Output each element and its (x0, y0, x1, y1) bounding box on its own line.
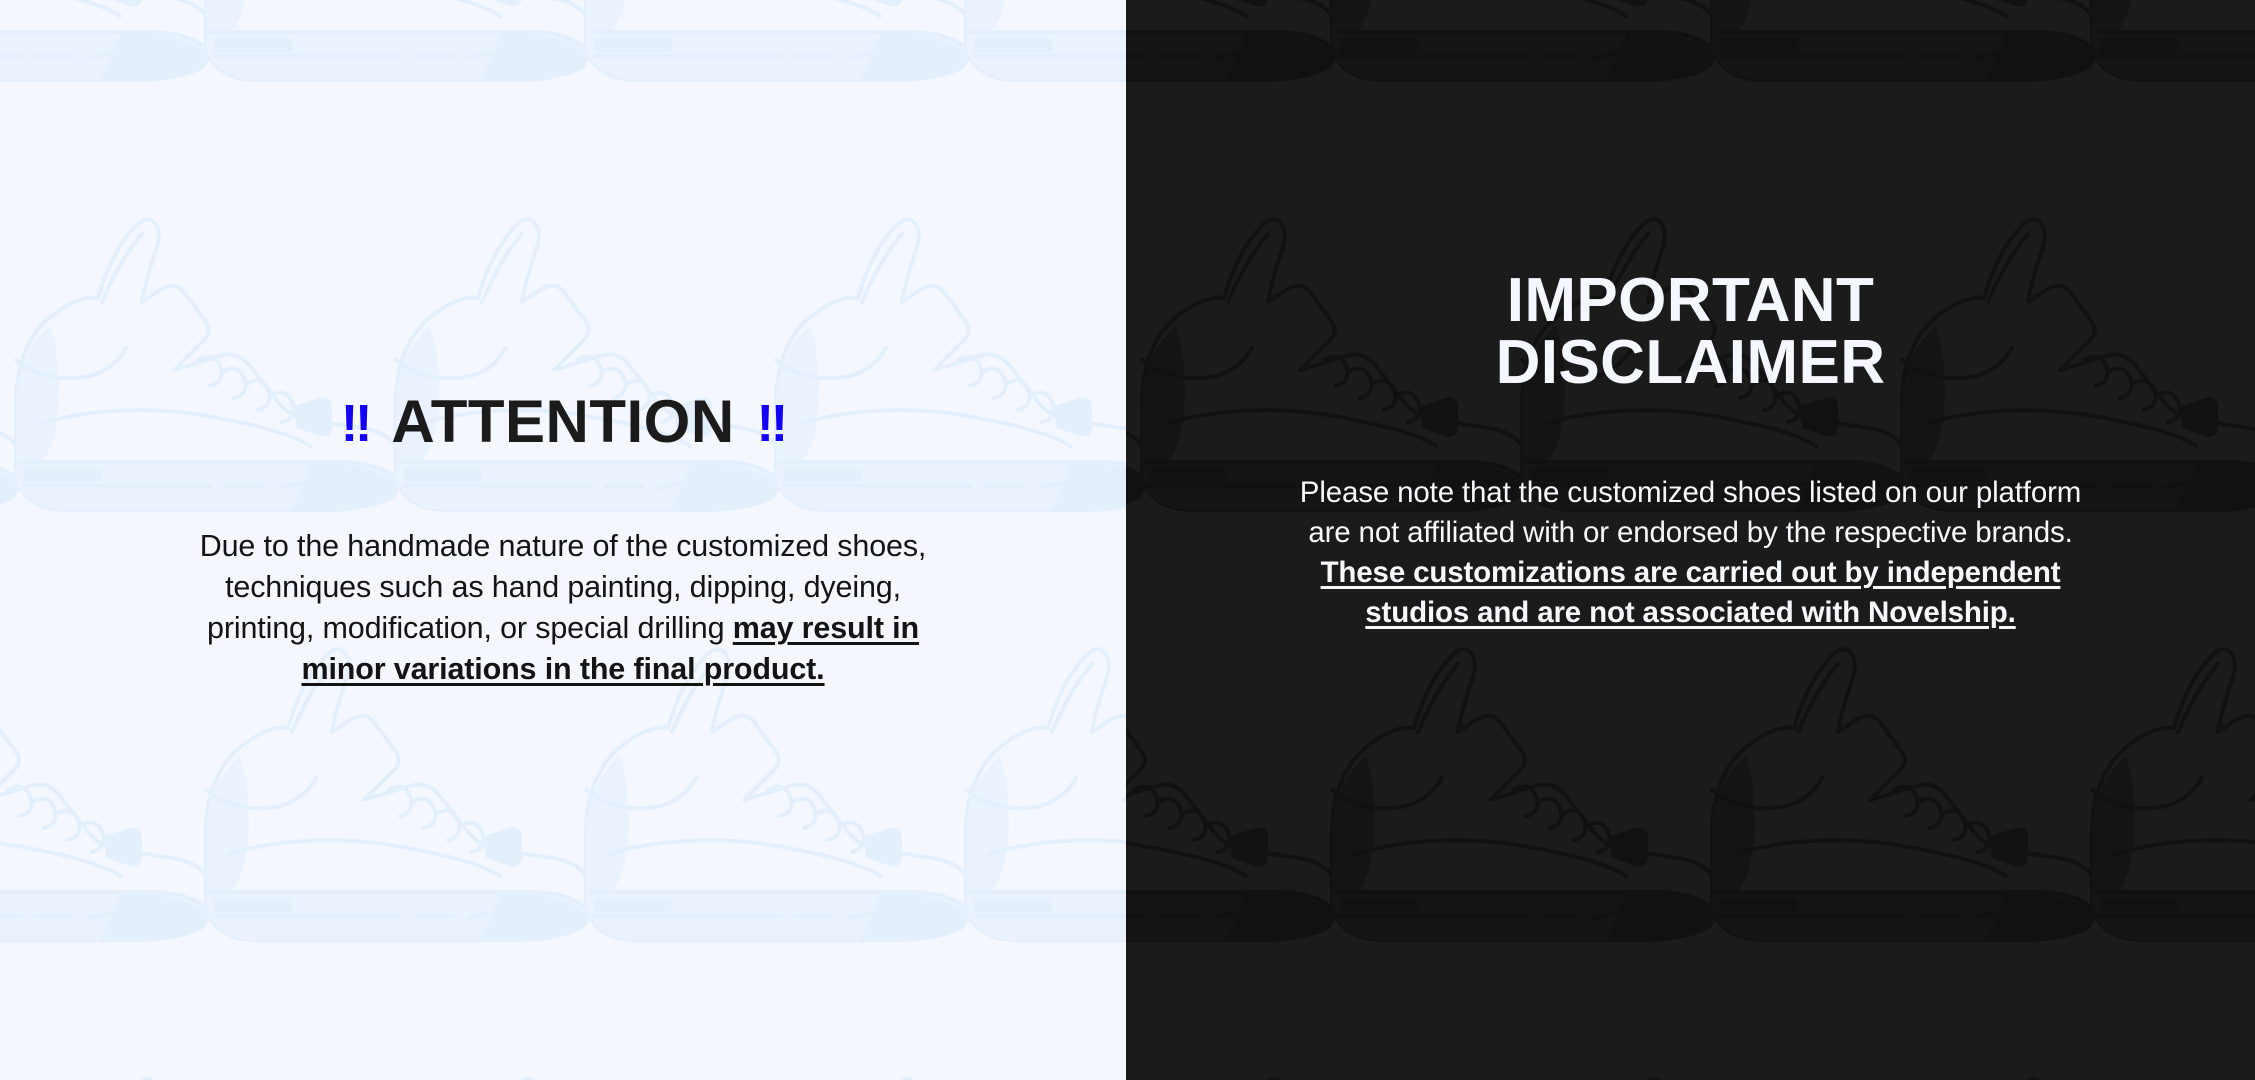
disclaimer-body-text: Please note that the customized shoes li… (1296, 473, 2086, 633)
disclaimer-heading: IMPORTANT DISCLAIMER (1281, 270, 2101, 395)
disclaimer-content: IMPORTANT DISCLAIMER Please note that th… (1126, 0, 2255, 1080)
double-exclamation-icon-left: ‼ (341, 398, 369, 450)
disclaimer-body-normal: Please note that the customized shoes li… (1300, 476, 2081, 549)
disclaimer-panel: IMPORTANT DISCLAIMER Please note that th… (1126, 0, 2255, 1080)
attention-panel: ‼ ATTENTION ‼ Due to the handmade nature… (0, 0, 1126, 1080)
attention-content: ‼ ATTENTION ‼ Due to the handmade nature… (0, 0, 1126, 1080)
attention-heading-text: ATTENTION (391, 392, 734, 452)
disclaimer-heading-line2: DISCLAIMER (1281, 332, 2101, 395)
double-exclamation-icon-right: ‼ (757, 398, 785, 450)
disclaimer-heading-line1: IMPORTANT (1281, 270, 2101, 333)
attention-body-text: Due to the handmade nature of the custom… (168, 526, 958, 690)
disclaimer-body-emphasis: These customizations are carried out by … (1321, 556, 2061, 629)
notice-banner: ‼ ATTENTION ‼ Due to the handmade nature… (0, 0, 2255, 1080)
attention-heading: ‼ ATTENTION ‼ (341, 392, 785, 452)
